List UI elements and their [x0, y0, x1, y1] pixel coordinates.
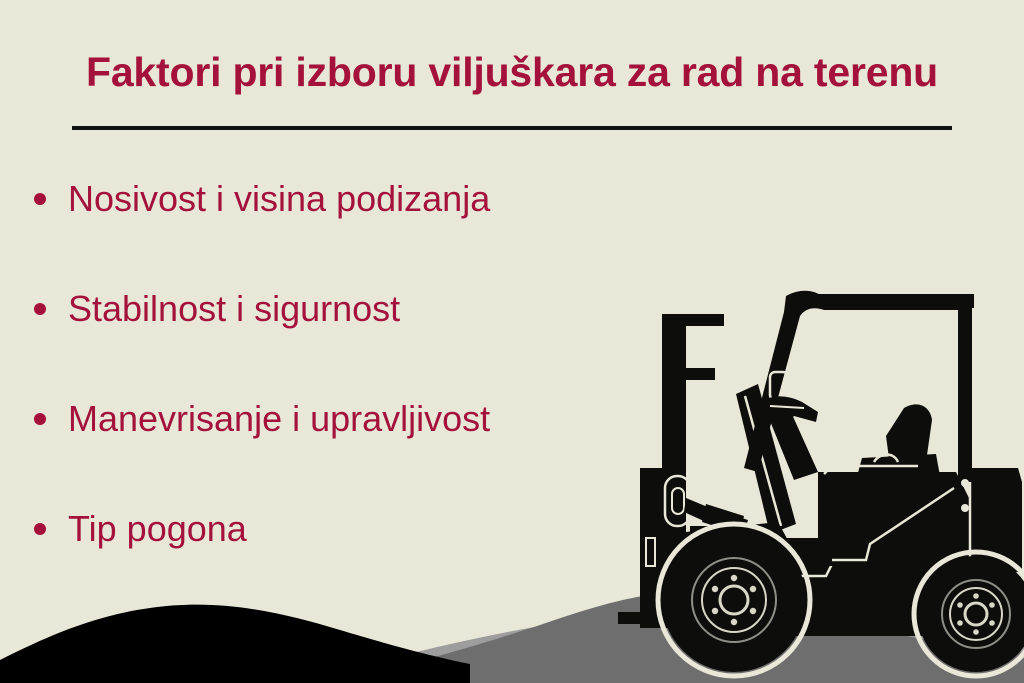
bullet-dot-icon	[34, 523, 46, 535]
list-item-label: Nosivost i visina podizanja	[68, 168, 490, 230]
poster-canvas: Faktori pri izboru viljuškara za rad na …	[0, 0, 1024, 683]
bullet-dot-icon	[34, 303, 46, 315]
list-item-label: Manevrisanje i upravljivost	[68, 388, 490, 450]
bullet-dot-icon	[34, 193, 46, 205]
bullet-dot-icon	[34, 413, 46, 425]
title-divider	[72, 126, 952, 130]
list-item: Stabilnost i sigurnost	[0, 278, 640, 388]
list-item: Tip pogona	[0, 498, 640, 608]
list-item-label: Stabilnost i sigurnost	[68, 278, 400, 340]
text-content-layer: Faktori pri izboru viljuškara za rad na …	[0, 0, 1024, 683]
factor-list: Nosivost i visina podizanja Stabilnost i…	[0, 168, 640, 608]
page-title: Faktori pri izboru viljuškara za rad na …	[0, 50, 1024, 95]
list-item: Nosivost i visina podizanja	[0, 168, 640, 278]
list-item-label: Tip pogona	[68, 498, 247, 560]
list-item: Manevrisanje i upravljivost	[0, 388, 640, 498]
